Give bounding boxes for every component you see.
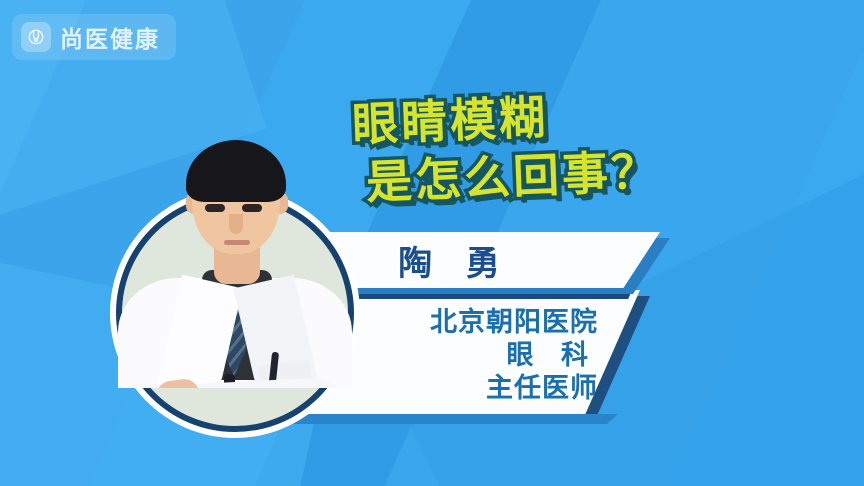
brand-logo-text: 尚医健康 <box>60 20 160 54</box>
video-thumbnail: 尚医健康 眼睛模糊 是怎么回事？ 北京朝阳医院 眼 科 主任医师 陶 勇 <box>0 0 864 486</box>
nose <box>229 214 243 234</box>
brand-logo[interactable]: 尚医健康 <box>12 14 176 60</box>
mouth <box>224 240 250 245</box>
eye-left <box>205 204 225 212</box>
stethoscope-badge-icon <box>21 22 51 52</box>
headline: 眼睛模糊 是怎么回事？ <box>352 88 852 201</box>
doctor-name: 陶 勇 <box>386 236 511 285</box>
credentials-hospital: 北京朝阳医院 <box>430 307 598 339</box>
credentials-department: 眼 科 <box>506 340 598 372</box>
eye-right <box>242 204 262 212</box>
credentials-title: 主任医师 <box>486 373 598 405</box>
